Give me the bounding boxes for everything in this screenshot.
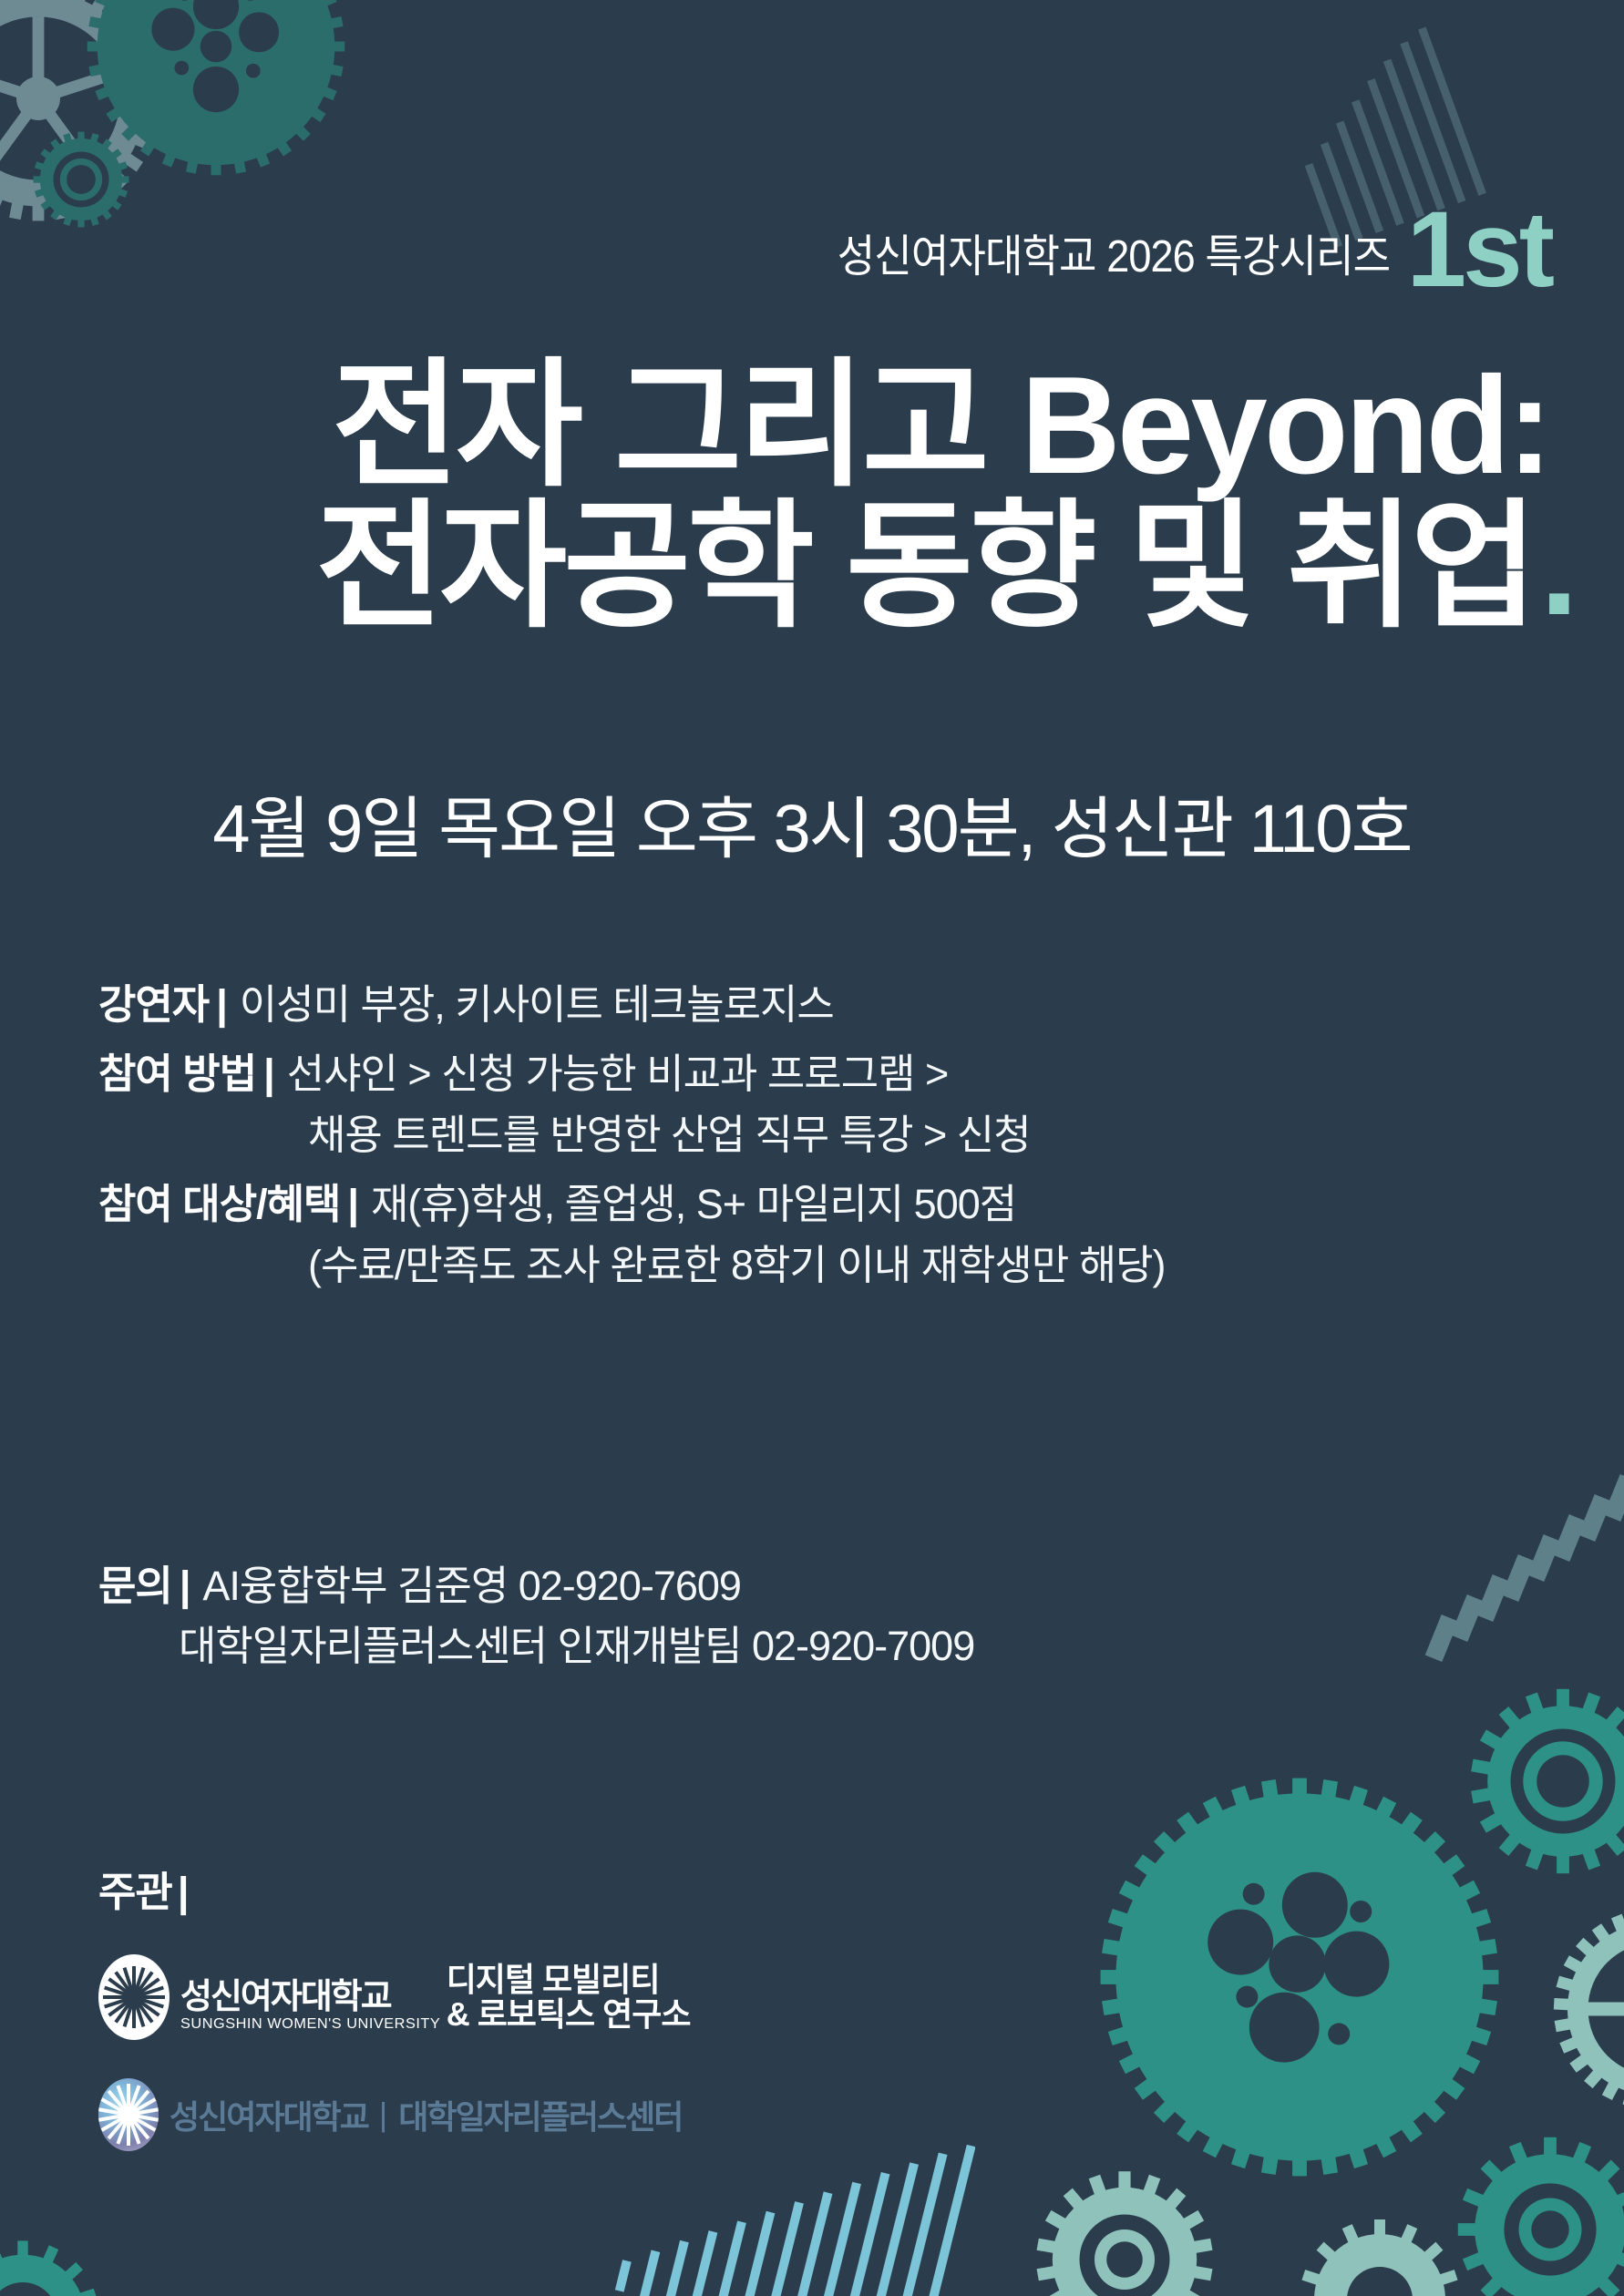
sungshin-emblem-icon	[98, 1954, 170, 2040]
host-logo-2-text-group: 성신여자대학교 | 대학일자리플러스센터	[170, 2091, 682, 2138]
contact-section: 문의 | AI융합학부 김준영 02-920-7609 대학일자리플러스센터 인…	[98, 1563, 1538, 1694]
detail-method: 참여 방법 | 선샤인 > 신청 가능한 비교과 프로그램 >	[98, 1051, 1538, 1097]
contact-line-2: 대학일자리플러스센터 인재개발팀 02-920-7009	[179, 1624, 974, 1669]
host-section: 주관|	[98, 1859, 691, 2189]
detail-eligibility-label: 참여 대상/혜택	[98, 1182, 340, 1227]
detail-eligibility: 참여 대상/혜택 | 재(휴)학생, 졸업생, S+ 마일리지 500점	[98, 1182, 1538, 1227]
series-header: 성신여자대학교 2026 특강시리즈 1st	[789, 191, 1551, 285]
host-separator: |	[178, 1869, 189, 1915]
detail-method-value: 선샤인 > 신청 가능한 비교과 프로그램 >	[287, 1051, 949, 1097]
host-2-university-name-kor: 성신여자대학교	[170, 2091, 368, 2138]
host-2-unit-name: 대학일자리플러스센터	[398, 2091, 682, 2138]
contact-separator: |	[180, 1563, 190, 1609]
host-university-name-eng: SUNGSHIN WOMEN'S UNIVERSITY	[180, 2017, 440, 2032]
detail-eligibility-note-row: (수료/만족도 조사 완료한 8학기 이내 재학생만 해당)	[98, 1243, 1538, 1288]
host-2-divider: |	[379, 2096, 387, 2134]
title-trailing-dot: .	[1540, 497, 1575, 638]
detail-method-separator: |	[263, 1051, 274, 1097]
contact-line-1: AI융합학부 김준영 02-920-7609	[202, 1563, 741, 1609]
title-line-2: 전자공학 동향 및 취업	[316, 489, 1535, 644]
event-details: 강연자 | 이성미 부장, 키사이트 테크놀로지스 참여 방법 | 선샤인 > …	[98, 982, 1538, 1312]
host-university-names: 성신여자대학교 SUNGSHIN WOMEN'S UNIVERSITY	[180, 1980, 436, 2032]
series-label: 성신여자대학교 2026 특강시리즈	[838, 220, 1390, 285]
host-unit-line-1: 디지털 모빌리티	[447, 1963, 691, 1997]
title-line-2-wrap: 전자공학 동향 및 취업.	[0, 497, 1569, 638]
host-university-name-kor: 성신여자대학교	[180, 1980, 436, 2014]
detail-eligibility-note: (수료/만족도 조사 완료한 8학기 이내 재학생만 해당)	[308, 1243, 1166, 1288]
detail-speaker: 강연자 | 이성미 부장, 키사이트 테크놀로지스	[98, 982, 1538, 1028]
detail-method-label: 참여 방법	[98, 1051, 256, 1097]
host-unit-names: 디지털 모빌리티 & 로보틱스 연구소	[447, 1963, 691, 2032]
detail-speaker-label: 강연자	[98, 982, 209, 1028]
detail-speaker-separator: |	[216, 982, 227, 1028]
host-unit-line-2: & 로보틱스 연구소	[447, 1997, 691, 2032]
host-logo-mobility-robotics: 성신여자대학교 SUNGSHIN WOMEN'S UNIVERSITY 디지털 …	[98, 1954, 691, 2040]
content-layer: 성신여자대학교 2026 특강시리즈 1st 전자 그리고 Beyond: 전자…	[0, 0, 1624, 2296]
detail-method-value-line2: 채용 트렌드를 반영한 산업 직무 특강 > 신청	[308, 1112, 1031, 1158]
host-label: 주관	[98, 1869, 172, 1915]
title-line-1: 전자 그리고 Beyond:	[0, 355, 1569, 497]
poster-canvas: 성신여자대학교 2026 특강시리즈 1st 전자 그리고 Beyond: 전자…	[0, 0, 1624, 2296]
detail-eligibility-separator: |	[347, 1182, 358, 1227]
detail-method-value-line2-row: 채용 트렌드를 반영한 산업 직무 특강 > 신청	[98, 1112, 1538, 1158]
detail-speaker-value: 이성미 부장, 키사이트 테크놀로지스	[240, 982, 834, 1028]
event-datetime-location: 4월 9일 목요일 오후 3시 30분, 성신관 110호	[0, 774, 1624, 872]
contact-secondary: 대학일자리플러스센터 인재개발팀 02-920-7009	[98, 1624, 1538, 1669]
host-heading: 주관|	[98, 1859, 691, 1918]
detail-eligibility-value: 재(휴)학생, 졸업생, S+ 마일리지 500점	[371, 1182, 1016, 1227]
contact-primary: 문의 | AI융합학부 김준영 02-920-7609	[98, 1563, 1538, 1609]
sungshin-emblem-blue-icon	[98, 2078, 159, 2151]
series-ordinal-badge: 1st	[1406, 206, 1551, 294]
contact-label: 문의	[98, 1563, 172, 1609]
host-logo-text-group: 성신여자대학교 SUNGSHIN WOMEN'S UNIVERSITY 디지털 …	[180, 1963, 691, 2032]
page-title: 전자 그리고 Beyond: 전자공학 동향 및 취업.	[0, 355, 1569, 638]
host-logo-job-plus-center: 성신여자대학교 | 대학일자리플러스센터	[98, 2078, 691, 2151]
